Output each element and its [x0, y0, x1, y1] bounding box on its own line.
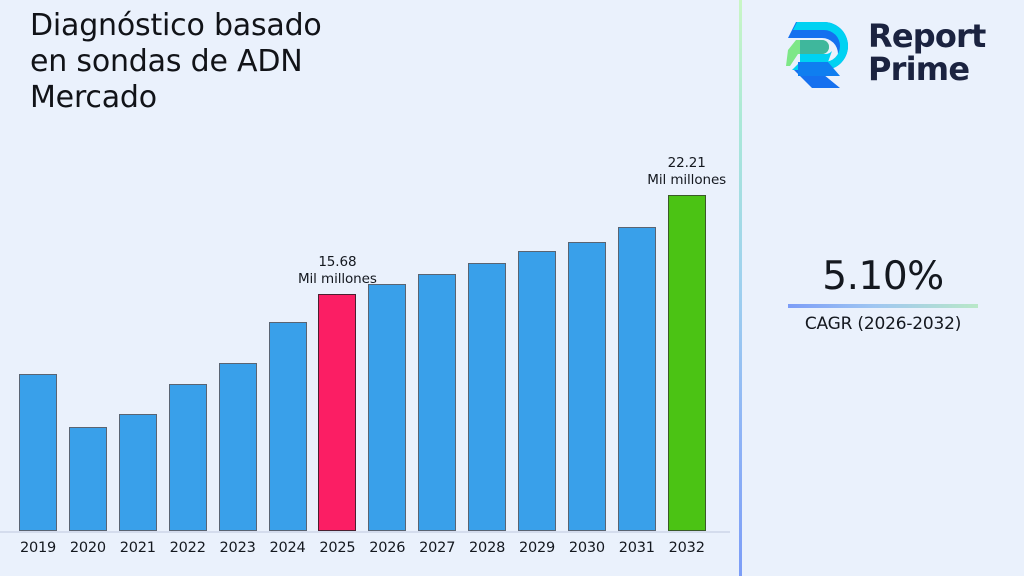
chart-panel: Diagnóstico basado en sondas de ADN Merc… — [0, 0, 739, 576]
bar-2021 — [119, 414, 157, 531]
x-tick-2023: 2023 — [211, 540, 265, 556]
x-tick-2026: 2026 — [360, 540, 414, 556]
brand-name: Report Prime — [868, 20, 986, 86]
x-tick-2019: 2019 — [11, 540, 65, 556]
x-tick-2027: 2027 — [410, 540, 464, 556]
x-axis-line — [0, 531, 730, 533]
bar-2027 — [418, 274, 456, 531]
cagr-caption: CAGR (2026-2032) — [742, 314, 1024, 334]
x-axis-tick-labels: 2019202020212022202320242025202620272028… — [0, 536, 739, 570]
bar-2024 — [269, 322, 307, 531]
brand-panel: Report Prime 5.10% CAGR (2026-2032) — [742, 0, 1024, 576]
cagr-divider-rule — [788, 304, 978, 308]
bar-2028 — [468, 263, 506, 531]
bar-2023 — [219, 363, 257, 531]
bar-2026 — [368, 284, 406, 531]
bar-2020 — [69, 427, 107, 531]
cagr-value: 5.10% — [742, 254, 1024, 300]
x-tick-2022: 2022 — [161, 540, 215, 556]
x-tick-2024: 2024 — [261, 540, 315, 556]
bar-value-label-2025: 15.68 Mil millones — [262, 254, 412, 288]
screenshot-root: Diagnóstico basado en sondas de ADN Merc… — [0, 0, 1024, 576]
bar-2031 — [618, 227, 656, 531]
x-tick-2021: 2021 — [111, 540, 165, 556]
report-prime-logo-icon — [778, 16, 856, 90]
x-tick-2030: 2030 — [560, 540, 614, 556]
x-tick-2028: 2028 — [460, 540, 514, 556]
bar-2019 — [19, 374, 57, 531]
x-tick-2032: 2032 — [660, 540, 714, 556]
x-tick-2029: 2029 — [510, 540, 564, 556]
brand-logo: Report Prime — [778, 12, 1004, 94]
cagr-block: 5.10% CAGR (2026-2032) — [742, 254, 1024, 334]
x-tick-2025: 2025 — [310, 540, 364, 556]
bar-chart-plot-area: 15.68 Mil millones22.21 Mil millones — [0, 0, 739, 532]
bar-2022 — [169, 384, 207, 531]
bar-2029 — [518, 251, 556, 531]
bar-2032 — [668, 195, 706, 531]
bar-2025 — [318, 294, 356, 531]
x-tick-2031: 2031 — [610, 540, 664, 556]
bar-2030 — [568, 242, 606, 531]
x-tick-2020: 2020 — [61, 540, 115, 556]
